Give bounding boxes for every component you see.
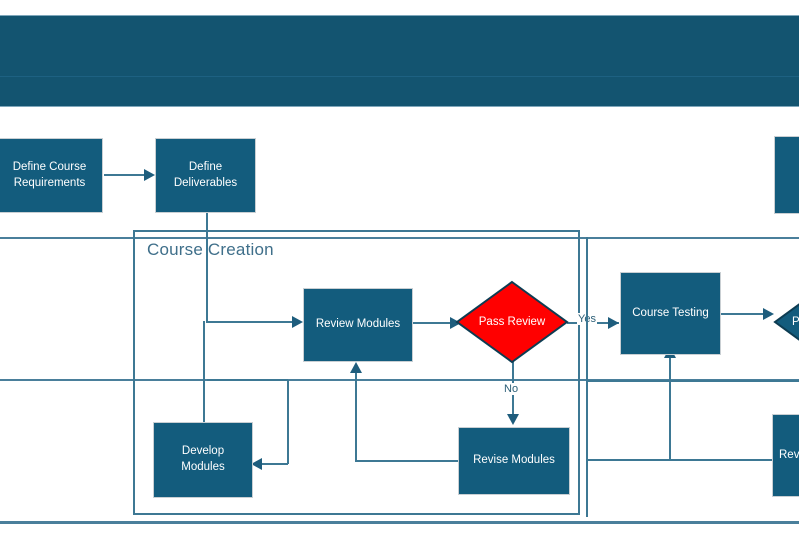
node-bottom-right-clipped[interactable]: Rev: [772, 414, 799, 497]
arrowhead-revise-to-review: [350, 362, 362, 373]
edge-label-no: No: [503, 383, 519, 395]
node-revise-modules[interactable]: Revise Modules: [458, 427, 570, 495]
node-label-line1: Define: [174, 160, 237, 176]
node-label-line1: Develop: [181, 444, 224, 460]
banner-divider: [0, 76, 799, 77]
diamond-shape-icon: [456, 281, 568, 363]
node-label-line2: Requirements: [13, 176, 87, 192]
node-course-testing[interactable]: Course Testing: [620, 272, 721, 355]
decision-pass-review[interactable]: Pass Review: [456, 281, 568, 363]
arrowhead-yes-to-testing: [608, 317, 619, 329]
node-define-deliverables[interactable]: Define Deliverables: [155, 138, 256, 213]
node-label-line2: Deliverables: [174, 176, 237, 192]
connector-revise-back-v: [355, 372, 357, 462]
arrowhead-no-to-revise: [507, 414, 519, 425]
node-label: Course Testing: [632, 306, 709, 322]
node-develop-modules[interactable]: Develop Modules: [153, 422, 253, 498]
flowchart-canvas: Course Creation No Yes Define Course: [0, 0, 799, 540]
node-label-line1: Define Course: [13, 160, 87, 176]
connector-deliverables-down: [206, 212, 208, 322]
node-top-right-clipped[interactable]: [774, 136, 799, 214]
connector-trunk-to-develop: [203, 321, 205, 423]
connector-develop-loop-vertical: [287, 380, 289, 464]
connector-bottomright-back-v: [669, 356, 671, 460]
diamond-shape-icon: [774, 281, 799, 363]
arrowhead-testing-to-pass-right: [763, 308, 774, 320]
node-label: Review Modules: [316, 317, 400, 333]
node-define-course-requirements[interactable]: Define Course Requirements: [0, 138, 103, 213]
title-banner: [0, 15, 799, 107]
connector-revise-back-h: [355, 460, 459, 462]
connector-req-to-deliverables: [104, 174, 146, 176]
connector-subprocess-right-edge: [586, 237, 588, 517]
connector-develop-loop-in: [262, 463, 288, 465]
connector-trunk-to-review: [206, 321, 296, 323]
node-review-modules[interactable]: Review Modules: [303, 288, 413, 362]
decision-pass-right-clipped[interactable]: Pa: [774, 281, 799, 363]
connector-bottomright-back-h: [588, 459, 773, 461]
node-label: Revise Modules: [473, 453, 555, 469]
node-label: Rev: [779, 448, 799, 464]
arrowhead-trunk-to-review: [292, 316, 303, 328]
lane-divider-bottom: [0, 521, 799, 524]
arrowhead-req-to-deliverables: [144, 169, 155, 181]
node-label-line2: Modules: [181, 460, 224, 476]
subprocess-title: Course Creation: [147, 240, 274, 260]
connector-return-line-right: [588, 380, 799, 382]
connector-develop-loop-top: [207, 379, 288, 381]
